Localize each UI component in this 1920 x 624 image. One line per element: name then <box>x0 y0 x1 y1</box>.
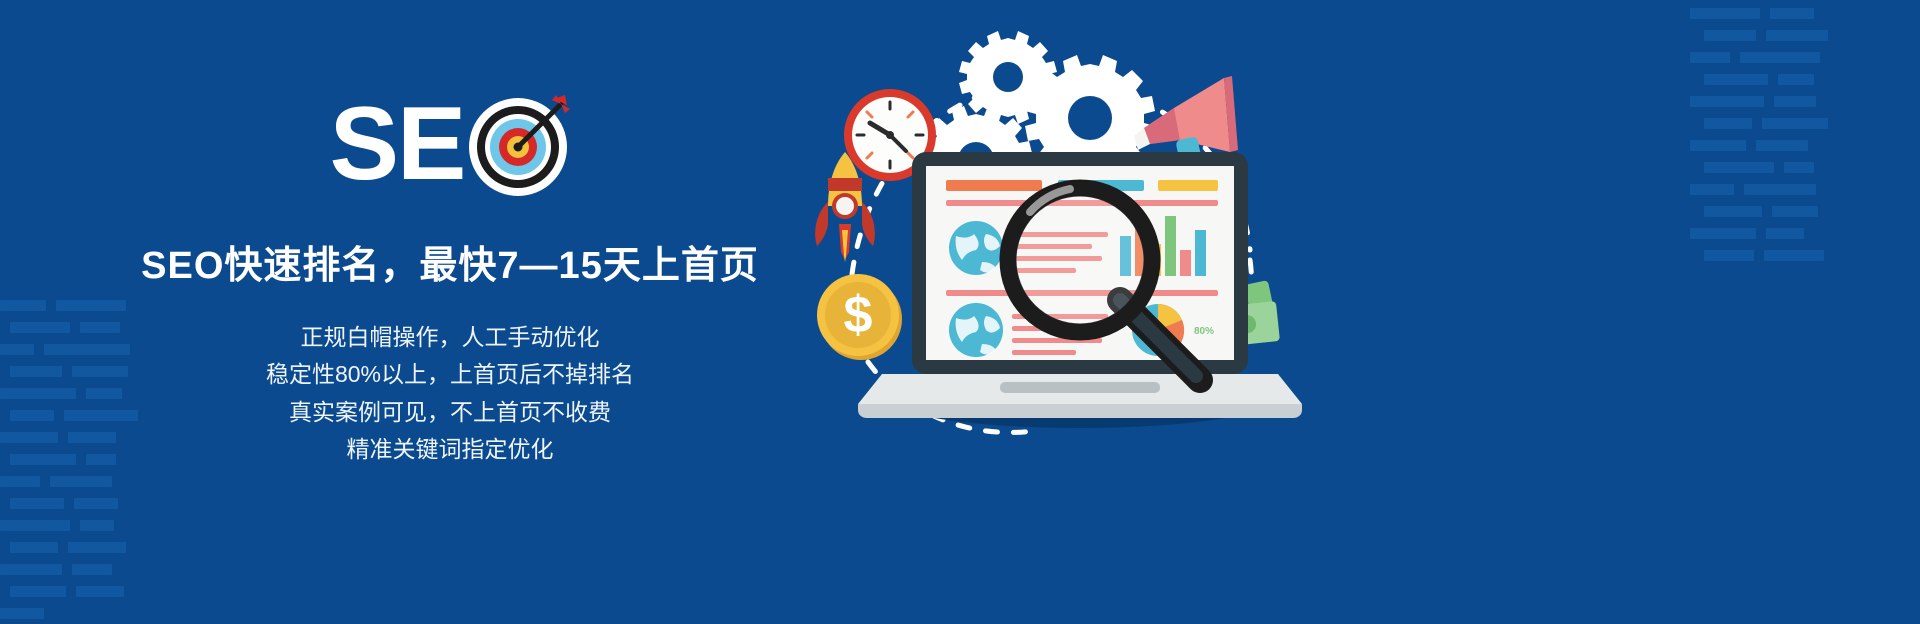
seo-logo: SE <box>330 92 571 196</box>
seo-logo-letters: SE <box>330 92 465 196</box>
body-line: 正规白帽操作，人工手动优化 <box>300 319 599 356</box>
page-title: SEO快速排名，最快7—15天上首页 <box>141 234 759 289</box>
chart-percentage-label: 80% <box>1194 326 1214 337</box>
decorative-code-lines-right <box>1690 0 1920 624</box>
globe-icon <box>949 303 1003 357</box>
bullseye-target-icon <box>466 92 570 196</box>
seo-laptop-illustration: $ 17 <box>790 0 1350 624</box>
text-block: SE SEO快 <box>0 0 900 624</box>
globe-icon <box>949 221 1003 275</box>
dollar-coin-icon: $ <box>817 274 902 360</box>
svg-text:$: $ <box>844 286 873 344</box>
body-line: 真实案例可见，不上首页不收费 <box>289 394 611 431</box>
body-line: 稳定性80%以上，上首页后不掉排名 <box>266 356 634 393</box>
body-line: 精准关键词指定优化 <box>346 431 553 468</box>
seo-banner: SE SEO快 <box>0 0 1920 624</box>
body-lines: 正规白帽操作，人工手动优化 稳定性80%以上，上首页后不掉排名 真实案例可见，不… <box>266 319 634 468</box>
